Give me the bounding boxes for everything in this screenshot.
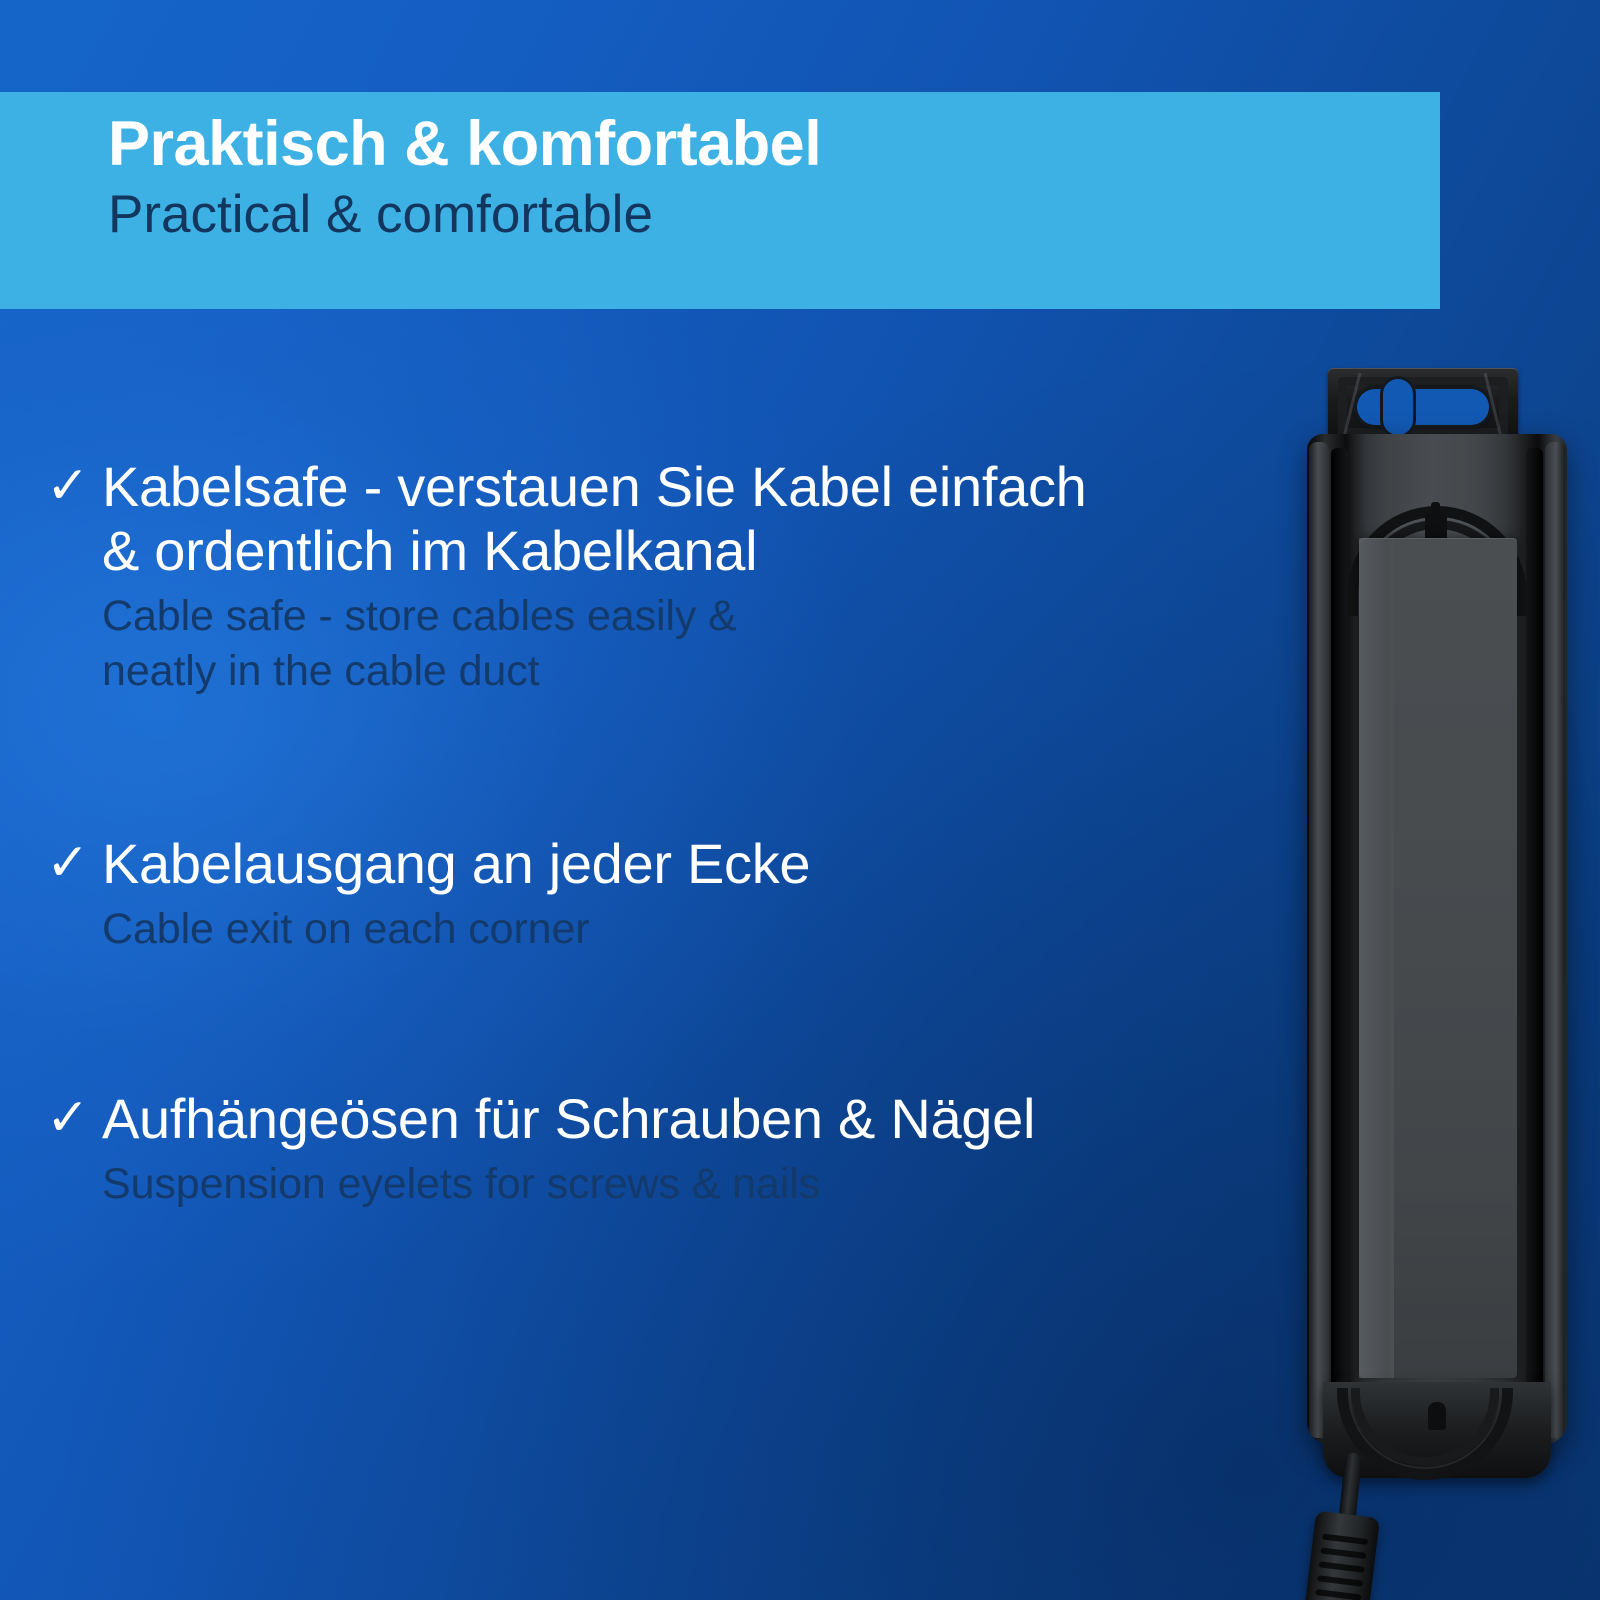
page-title: Praktisch & komfortabel (108, 110, 1440, 178)
feature-item-suspension-eyelets: ✓ Aufhängeösen für Schrauben & Nägel Sus… (0, 1087, 1270, 1212)
drum-rail-left (1309, 442, 1329, 1438)
feature-subtitle-en-line2: neatly in the cable duct (102, 647, 539, 695)
face-plate-highlight (1359, 538, 1385, 1378)
drum-rail-right (1545, 442, 1565, 1438)
feature-item-cable-exit: ✓ Kabelausgang an jeder Ecke Cable exit … (0, 832, 1270, 957)
check-icon: ✓ (46, 455, 102, 517)
check-icon: ✓ (46, 832, 102, 894)
drum-body (1307, 434, 1567, 1444)
check-icon: ✓ (46, 1087, 102, 1149)
feature-headline-row: ✓ Kabelsafe - verstauen Sie Kabel einfac… (46, 455, 1270, 583)
euro-slot-lobe (1380, 376, 1416, 438)
page-subtitle: Practical & comfortable (108, 184, 1440, 247)
feature-title-de-line2: & ordentlich im Kabelkanal (102, 519, 757, 582)
infographic-canvas: Praktisch & komfortabel Practical & comf… (0, 0, 1600, 1600)
product-image-cable-drum (1285, 368, 1600, 1600)
feature-headline-row: ✓ Kabelausgang an jeder Ecke (46, 832, 1270, 896)
boot-rib (1315, 1589, 1361, 1600)
cable-groove-left (1331, 448, 1348, 1432)
boot-rib (1317, 1575, 1363, 1587)
boot-rib (1322, 1533, 1368, 1545)
boot-rib (1320, 1547, 1366, 1559)
header-banner: Praktisch & komfortabel Practical & comf… (0, 92, 1440, 309)
feature-headline-row: ✓ Aufhängeösen für Schrauben & Nägel (46, 1087, 1270, 1151)
feature-subtitle-en-line1: Cable safe - store cables easily & (102, 592, 737, 640)
feature-title-de-line1: Kabelsafe - verstauen Sie Kabel einfach (102, 455, 1087, 518)
feature-subtitle-en: Cable exit on each corner (102, 902, 1270, 957)
feature-list: ✓ Kabelsafe - verstauen Sie Kabel einfac… (0, 455, 1270, 1212)
feature-subtitle-en: Suspension eyelets for screws & nails (102, 1157, 1270, 1212)
feature-title-de: Aufhängeösen für Schrauben & Nägel (102, 1087, 1035, 1151)
drum-face-plate (1359, 538, 1517, 1378)
feature-title-de: Kabelausgang an jeder Ecke (102, 832, 810, 896)
euro-slot-keyhole (1354, 386, 1492, 428)
feature-title-de: Kabelsafe - verstauen Sie Kabel einfach … (102, 455, 1087, 583)
boot-rib (1319, 1561, 1365, 1573)
cable-groove-right (1526, 448, 1543, 1432)
feature-item-cable-safe: ✓ Kabelsafe - verstauen Sie Kabel einfac… (0, 455, 1270, 699)
bottom-nub (1428, 1402, 1446, 1430)
feature-subtitle-en: Cable safe - store cables easily & neatl… (102, 589, 1270, 699)
strain-relief-boot (1302, 1511, 1380, 1600)
